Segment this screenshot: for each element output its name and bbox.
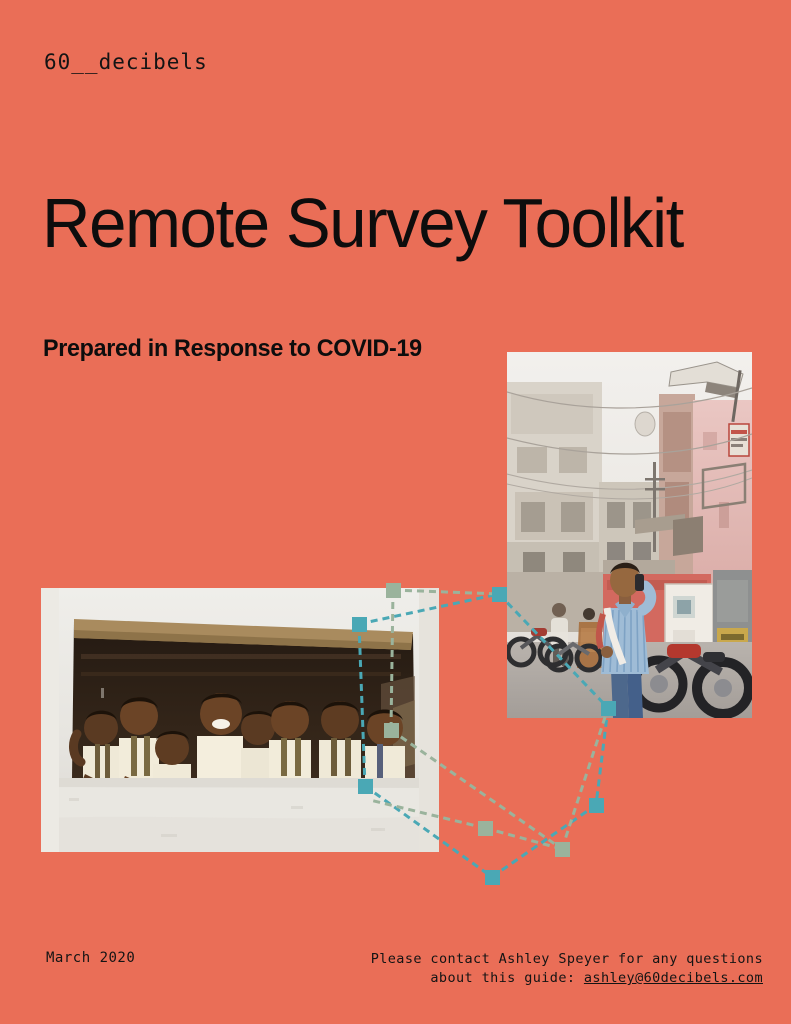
network-node [478,821,493,836]
network-node [589,798,604,813]
contact-line-2: about this guide: ashley@60decibels.com [345,969,763,988]
street-scene-illustration [507,352,752,718]
contact-email-link[interactable]: ashley@60decibels.com [584,970,763,986]
children-window-photo [41,588,439,852]
network-node [485,870,500,885]
page-subtitle: Prepared in Response to COVID-19 [43,335,422,363]
contact-prefix: about this guide: [430,970,584,986]
contact-block: Please contact Ashley Speyer for any que… [345,950,763,988]
network-node [492,587,507,602]
contact-line-1: Please contact Ashley Speyer for any que… [345,950,763,969]
street-scene-photo [507,352,752,718]
brand-logo: 60__decibels [44,50,208,74]
page-title: Remote Survey Toolkit [42,186,683,260]
publication-date: March 2020 [46,950,135,966]
children-window-illustration [41,588,439,852]
network-node [555,842,570,857]
cover-page: 60__decibels Remote Survey Toolkit Prepa… [0,0,791,1024]
